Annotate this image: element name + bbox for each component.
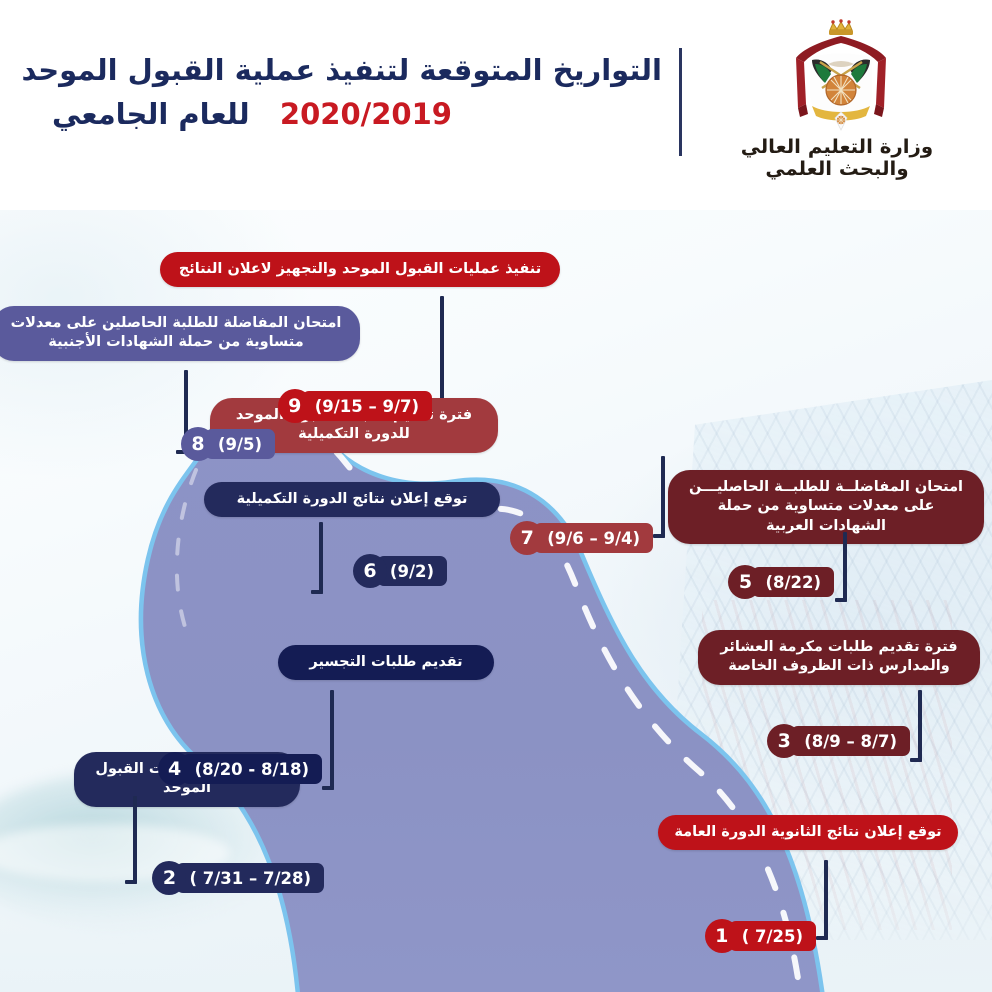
timeline-stem-foot-1: [816, 936, 828, 940]
timeline-label-9: تنفيذ عمليات القبول الموحد والتجهيز لاعل…: [160, 252, 560, 287]
timeline-number-6: 6: [353, 554, 387, 588]
header: التواريخ المتوقعة لتنفيذ عملية القبول ال…: [0, 0, 992, 205]
timeline-stem-foot-2: [125, 880, 137, 884]
timeline-stem-foot-3: [910, 758, 922, 762]
title-line-1: التواريخ المتوقعة لتنفيذ عملية القبول ال…: [52, 48, 662, 92]
timeline-stem-2: [133, 796, 137, 884]
timeline-stem-6: [319, 522, 323, 594]
jordan-coat-of-arms-icon: [732, 18, 942, 138]
timeline-stem-4: [330, 690, 334, 790]
timeline-date-9: (9/15 – 9/7): [302, 391, 432, 421]
timeline-stem-7: [661, 456, 665, 538]
timeline-label-4: تقديم طلبات التجسير: [278, 645, 494, 680]
background-bottom-haze: [0, 872, 992, 992]
timeline-label-6: توقع إعلان نتائج الدورة التكميلية: [204, 482, 500, 517]
timeline-stem-3: [918, 690, 922, 762]
timeline-badge-9: (9/15 – 9/7) 9: [278, 389, 432, 423]
timeline-stem-5: [843, 532, 847, 602]
timeline-stem-foot-4: [322, 786, 334, 790]
timeline-badge-6: (9/2) 6: [353, 554, 447, 588]
timeline-date-5: (8/22): [752, 567, 834, 597]
timeline-stem-foot-7: [653, 534, 665, 538]
timeline-date-8: (9/5): [205, 429, 275, 459]
timeline-number-4: 4: [158, 752, 192, 786]
timeline-number-9: 9: [278, 389, 312, 423]
timeline-badge-8: (9/5) 8: [181, 427, 275, 461]
timeline-number-7: 7: [510, 521, 544, 555]
title-divider: [679, 48, 682, 156]
infographic-canvas: التواريخ المتوقعة لتنفيذ عملية القبول ال…: [0, 0, 992, 992]
timeline-stem-foot-5: [835, 598, 847, 602]
timeline-badge-5: (8/22) 5: [728, 565, 834, 599]
timeline-date-7: (9/6 – 9/4): [534, 523, 653, 553]
timeline-badge-2: ( 7/31 – 7/28) 2: [152, 861, 324, 895]
ministry-name: وزارة التعليم العالي والبحث العلمي: [728, 136, 946, 180]
timeline-label-5: امتحان المفاضلــة للطلبــة الحاصليـــن ع…: [668, 470, 984, 544]
timeline-label-8: امتحان المفاضلة للطلبة الحاصلين على معدل…: [0, 306, 360, 361]
timeline-badge-3: (8/9 – 8/7) 3: [767, 724, 910, 758]
timeline-stem-foot-6: [311, 590, 323, 594]
academic-year: 2020/2019: [280, 97, 452, 131]
timeline-date-6: (9/2): [377, 556, 447, 586]
timeline-number-1: 1: [705, 919, 739, 953]
timeline-stem-1: [824, 860, 828, 940]
timeline-date-4: (8/20 - 8/18): [182, 754, 322, 784]
timeline-date-3: (8/9 – 8/7): [791, 726, 910, 756]
timeline-number-3: 3: [767, 724, 801, 758]
page-title: التواريخ المتوقعة لتنفيذ عملية القبول ال…: [52, 48, 662, 136]
timeline-label-3: فترة تقديم طلبات مكرمة العشائر والمدارس …: [698, 630, 980, 685]
timeline-badge-4: (8/20 - 8/18) 4: [158, 752, 322, 786]
timeline-label-1: توقع إعلان نتائج الثانوية الدورة العامة: [658, 815, 958, 850]
timeline-badge-7: (9/6 – 9/4) 7: [510, 521, 653, 555]
timeline-badge-1: ( 7/25) 1: [705, 919, 816, 953]
timeline-number-8: 8: [181, 427, 215, 461]
title-line-2-prefix: للعام الجامعي: [52, 97, 250, 131]
ministry-logo: وزارة التعليم العالي والبحث العلمي: [732, 18, 942, 188]
timeline-stem-9: [440, 296, 444, 410]
timeline-date-2: ( 7/31 – 7/28): [176, 863, 324, 893]
title-line-2: 2020/2019 للعام الجامعي: [52, 92, 662, 136]
timeline-date-1: ( 7/25): [729, 921, 816, 951]
